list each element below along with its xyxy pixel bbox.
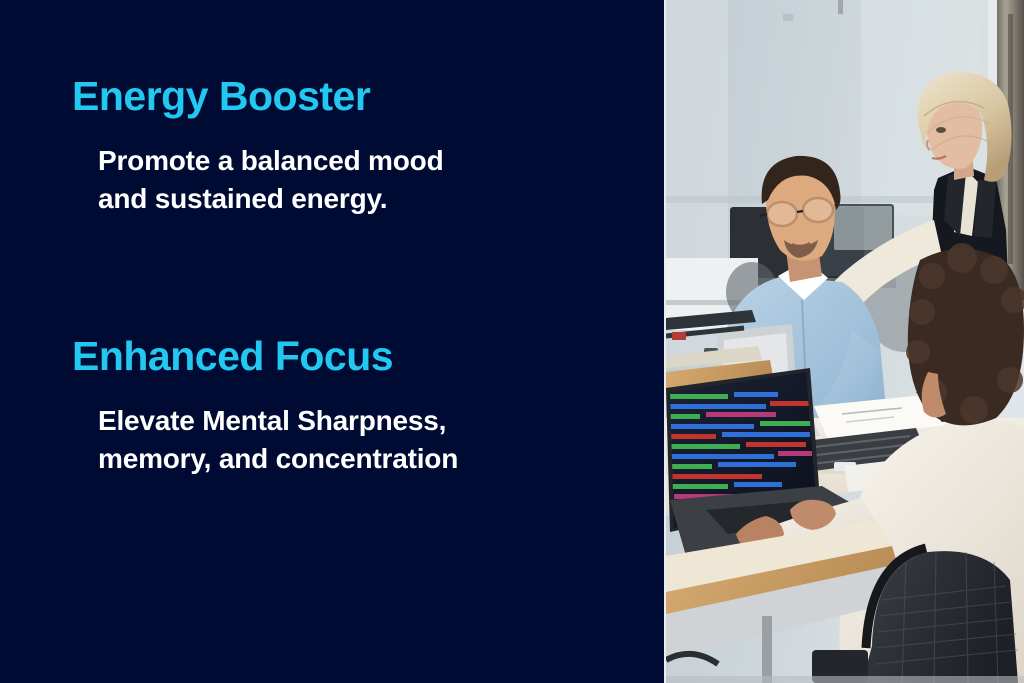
- glasses-bridge: [797, 211, 803, 212]
- body-energy-booster: Promote a balanced mood and sustained en…: [0, 120, 628, 218]
- benefit-block-enhanced-focus: Enhanced Focus Elevate Mental Sharpness,…: [0, 332, 664, 478]
- body-enhanced-focus: Elevate Mental Sharpness, memory, and co…: [0, 380, 628, 478]
- heading-energy-booster: Energy Booster: [0, 72, 664, 120]
- red-marker: [672, 332, 686, 340]
- body-line: memory, and concentration: [98, 440, 628, 478]
- body-line: and sustained energy.: [98, 180, 628, 218]
- office-photo-illustration: [666, 0, 1024, 683]
- left-text-panel: Energy Booster Promote a balanced mood a…: [0, 0, 664, 683]
- body-line: Promote a balanced mood: [98, 142, 628, 180]
- text-content: Energy Booster Promote a balanced mood a…: [0, 0, 664, 683]
- benefit-block-energy-booster: Energy Booster Promote a balanced mood a…: [0, 72, 664, 218]
- slide-canvas: Energy Booster Promote a balanced mood a…: [0, 0, 1024, 683]
- ceiling-fixture: [838, 0, 843, 14]
- floor: [666, 676, 1024, 683]
- office-photo: [666, 0, 1024, 683]
- wall-mark: [783, 14, 793, 21]
- monitor-reflection: [834, 206, 892, 250]
- heading-enhanced-focus: Enhanced Focus: [0, 332, 664, 380]
- eye: [936, 127, 946, 133]
- desk-leg: [762, 616, 772, 683]
- body-line: Elevate Mental Sharpness,: [98, 402, 628, 440]
